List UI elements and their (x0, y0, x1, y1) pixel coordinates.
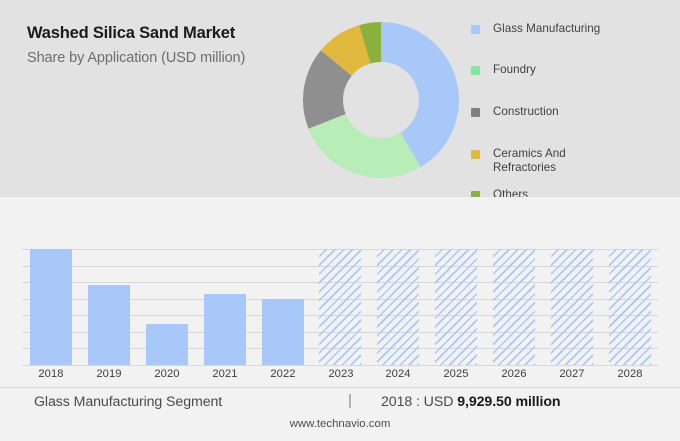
donut-chart (303, 22, 459, 178)
donut-section: Washed Silica Sand Market Share by Appli… (0, 0, 680, 197)
legend-item-label: Foundry (493, 63, 536, 77)
footer-separator: | (348, 392, 352, 409)
bar-2024[interactable] (377, 249, 419, 365)
x-axis-label-2019: 2019 (80, 368, 138, 380)
gridline (22, 365, 659, 366)
x-axis-label-2028: 2028 (601, 368, 659, 380)
footer-value-amount: 9,929.50 million (457, 394, 560, 410)
footer: Glass Manufacturing Segment | 2018 : USD… (0, 387, 680, 441)
bar-2018[interactable] (30, 249, 72, 365)
x-axis-label-2020: 2020 (138, 368, 196, 380)
footer-url: www.technavio.com (0, 418, 680, 430)
legend-item-3[interactable]: Ceramics And Refractories (471, 147, 566, 174)
bar-chart-plot (22, 249, 659, 366)
x-axis-label-2026: 2026 (485, 368, 543, 380)
footer-value-prefix: 2018 : USD (381, 394, 457, 410)
legend-item-label: Ceramics And Refractories (493, 147, 566, 174)
legend-swatch-icon (471, 25, 480, 34)
x-axis-label-2021: 2021 (196, 368, 254, 380)
legend-swatch-icon (471, 66, 480, 75)
page-title: Washed Silica Sand Market (27, 24, 235, 43)
donut-chart-svg (303, 22, 459, 178)
infographic-page: Washed Silica Sand Market Share by Appli… (0, 0, 680, 440)
x-axis-label-2027: 2027 (543, 368, 601, 380)
legend-swatch-icon (471, 150, 480, 159)
bar-2027[interactable] (551, 249, 593, 365)
footer-segment-label: Glass Manufacturing Segment (34, 394, 222, 410)
bar-2021[interactable] (204, 294, 246, 365)
legend-item-label: Construction (493, 105, 559, 119)
x-axis-label-2024: 2024 (369, 368, 427, 380)
bar-2023[interactable] (319, 249, 361, 365)
legend-item-1[interactable]: Foundry (471, 63, 536, 77)
legend-item-label: Glass Manufacturing (493, 22, 600, 36)
bar-2028[interactable] (609, 249, 651, 365)
donut-hole (343, 62, 419, 138)
x-axis-labels: 2018201920202021202220232024202520262027… (22, 368, 659, 386)
bar-2022[interactable] (262, 299, 304, 365)
bar-2020[interactable] (146, 324, 188, 365)
x-axis-label-2018: 2018 (22, 368, 80, 380)
bar-2025[interactable] (435, 249, 477, 365)
legend-item-0[interactable]: Glass Manufacturing (471, 22, 600, 36)
x-axis-label-2025: 2025 (427, 368, 485, 380)
page-subtitle: Share by Application (USD million) (27, 50, 245, 66)
x-axis-label-2023: 2023 (312, 368, 370, 380)
legend-swatch-icon (471, 108, 480, 117)
footer-value: 2018 : USD 9,929.50 million (381, 394, 560, 410)
legend-item-2[interactable]: Construction (471, 105, 559, 119)
x-axis-label-2022: 2022 (254, 368, 312, 380)
bar-2019[interactable] (88, 285, 130, 365)
bar-chart-section: 2018201920202021202220232024202520262027… (0, 197, 680, 387)
bar-2026[interactable] (493, 249, 535, 365)
